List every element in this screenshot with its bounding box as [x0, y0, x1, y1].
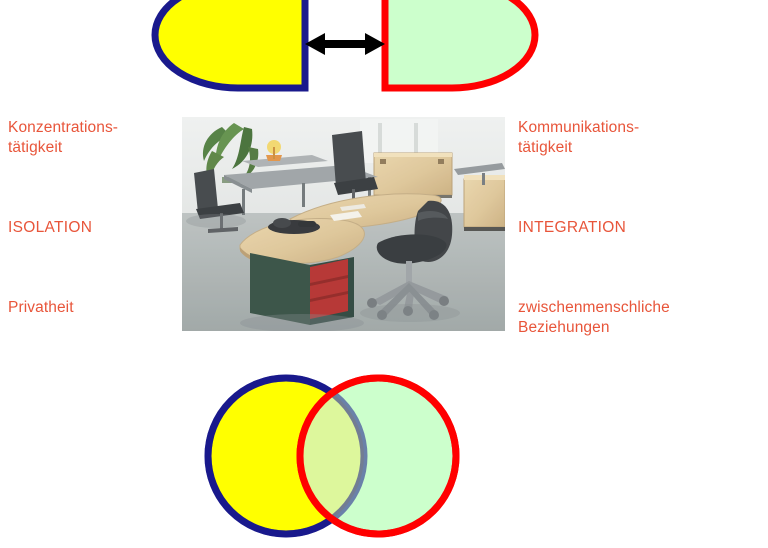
left-label-keyword: ISOLATION [8, 218, 92, 238]
top-diagram [0, 0, 768, 100]
right-label-heading: Kommunikations- tätigkeit [518, 118, 639, 158]
right-label-keyword: INTEGRATION [518, 218, 626, 238]
photo-wash [182, 117, 505, 331]
office-workspace-photo [182, 117, 505, 331]
venn-diagram [0, 360, 768, 548]
left-label-heading: Konzentrations- tätigkeit [8, 118, 118, 158]
yellow-d-shape-left [155, 0, 305, 88]
left-label-attribute: Privatheit [8, 298, 74, 318]
venn-diagram-svg [0, 360, 768, 548]
top-diagram-svg [0, 0, 768, 100]
double-headed-arrow [305, 33, 385, 55]
right-label-attribute: zwischenmenschliche Beziehungen [518, 298, 670, 338]
office-photo-illustration [182, 117, 505, 331]
green-d-shape-right [385, 0, 535, 88]
